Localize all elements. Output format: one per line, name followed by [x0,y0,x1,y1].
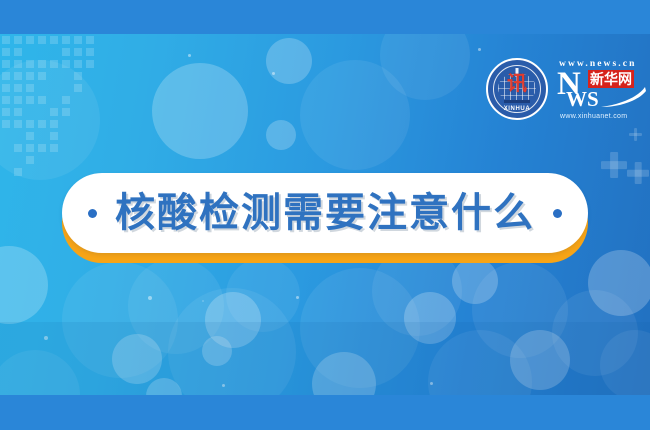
swoosh-icon [599,87,647,109]
sparkle-dot [296,296,299,299]
wordmark-letters-ws: WS [566,89,599,109]
matrix-square [14,96,22,104]
matrix-square [2,60,10,68]
wordmark-cn-badge: 新华网 [588,70,634,88]
matrix-square [2,120,10,128]
bubble [202,300,204,302]
matrix-square [26,84,34,92]
title-banner: 核酸检测需要注意什么 [62,173,588,265]
matrix-square [74,72,82,80]
graphic-canvas: 讯 XINHUA www.news.cn N WS 新华网 www.xinhua… [0,0,650,430]
bubble [226,258,300,332]
matrix-square [74,48,82,56]
matrix-square [86,60,94,68]
wordmark-bottom-url: www.xinhuanet.com [560,113,627,120]
banner-title: 核酸检测需要注意什么 [115,191,535,235]
matrix-square [14,120,22,128]
matrix-square [50,108,58,116]
matrix-square [26,72,34,80]
sparkle-dot [272,72,275,75]
matrix-square [26,156,34,164]
matrix-square [14,60,22,68]
bottom-band [0,395,650,430]
matrix-square [26,132,34,140]
matrix-square [14,84,22,92]
matrix-square [2,108,10,116]
bullet-dot-left [88,209,97,218]
matrix-square [26,96,34,104]
xinhuanet-wordmark: www.news.cn N WS 新华网 www.xinhuanet.com [557,59,649,119]
top-band [0,0,650,34]
matrix-square [86,36,94,44]
matrix-square [38,96,46,104]
seal-emblem-char: 讯 [507,74,527,94]
matrix-square [2,96,10,104]
matrix-square [62,60,70,68]
matrix-square [14,36,22,44]
matrix-square [74,36,82,44]
sparkle-dot [478,48,481,51]
sparkle-dot [148,296,152,300]
matrix-square [62,96,70,104]
matrix-square [74,60,82,68]
plus-icon [627,162,649,184]
matrix-square [50,132,58,140]
matrix-square [2,36,10,44]
matrix-square [38,60,46,68]
matrix-square [38,120,46,128]
matrix-square [26,36,34,44]
seal-ring-text: XINHUA [488,106,546,112]
matrix-square [62,36,70,44]
matrix-square [26,120,34,128]
xinhua-seal-icon: 讯 XINHUA [486,58,548,120]
matrix-square [26,144,34,152]
matrix-square [50,120,58,128]
bubble [588,250,650,316]
plus-icon [601,152,627,178]
matrix-square [62,108,70,116]
matrix-square [38,36,46,44]
matrix-square [14,72,22,80]
bubble [152,63,248,159]
xinhua-logo[interactable]: 讯 XINHUA www.news.cn N WS 新华网 www.xinhua… [486,58,649,120]
matrix-square [14,48,22,56]
matrix-square [50,36,58,44]
bullet-dot-right [553,209,562,218]
banner-plate: 核酸检测需要注意什么 [62,173,588,253]
matrix-square [14,144,22,152]
matrix-square [14,168,22,176]
matrix-square [38,72,46,80]
matrix-square [2,84,10,92]
matrix-square [38,144,46,152]
matrix-square [2,48,10,56]
matrix-square [86,48,94,56]
matrix-square [14,108,22,116]
bubble [266,38,312,84]
matrix-square [74,84,82,92]
matrix-square [2,72,10,80]
seal-base-bar [504,100,530,103]
matrix-square [50,144,58,152]
matrix-square [50,60,58,68]
plus-icon [629,128,642,141]
mid-tone-band [0,322,650,395]
sparkle-dot [188,54,191,57]
matrix-square [62,48,70,56]
matrix-square [26,60,34,68]
bubble [266,120,296,150]
dot-matrix-decoration [0,34,120,174]
bubble [0,246,48,324]
